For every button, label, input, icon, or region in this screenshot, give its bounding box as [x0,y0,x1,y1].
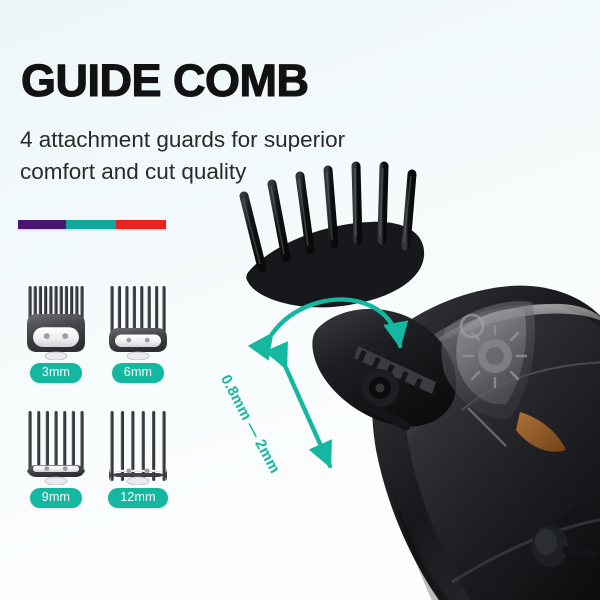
comb-size-label: 3mm [30,363,82,383]
guard-comb-row: 3mm 6mm [10,268,190,393]
guard-comb-item: 12mm [98,393,178,508]
divider-segment-red [116,220,166,229]
divider-segment-teal [66,220,116,229]
guard-comb-item: 9mm [16,393,96,508]
guard-comb-item: 3mm [16,268,96,383]
comb-size-label: 9mm [30,488,82,508]
comb-size-label: 12mm [108,488,168,508]
clipper-product-image [210,150,600,600]
comb-12mm-icon [101,393,175,485]
comb-6mm-icon [101,268,175,360]
product-feature-image: GUIDE COMB 4 attachment guards for super… [0,0,600,600]
guard-comb-row: 9mm 12mm [10,393,190,518]
clipper-illustration [210,150,600,600]
guard-comb-item: 6mm [98,268,178,383]
comb-size-label: 6mm [112,363,164,383]
page-title: GUIDE COMB [21,56,309,106]
comb-3mm-icon [19,268,93,360]
comb-9mm-icon [19,393,93,485]
color-divider [18,220,166,229]
divider-segment-purple [18,220,66,229]
attached-guard-comb [243,166,424,307]
guard-comb-grid: 3mm 6mm 9mm 12mm [10,268,190,518]
